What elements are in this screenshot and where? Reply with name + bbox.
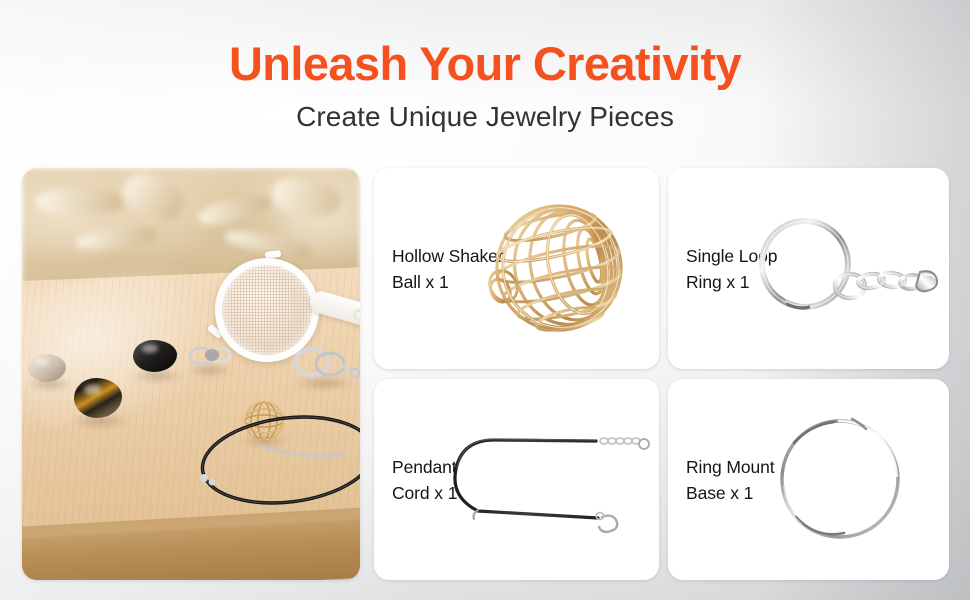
silver-rings-pair bbox=[292, 346, 360, 382]
item-card-hollow-shaker-ball[interactable]: Hollow Shaker Ball x 1 bbox=[374, 168, 659, 369]
split-keyring-with-chain-icon bbox=[668, 168, 949, 369]
jewelry-making-photo bbox=[22, 168, 360, 580]
item-card-pendant-cord[interactable]: Pendant Cord x 1 bbox=[374, 379, 659, 580]
gold-spiral-cage-ball-icon bbox=[374, 168, 659, 369]
ring-mount-base-icon bbox=[668, 379, 949, 580]
item-card-ring-mount-base[interactable]: Ring Mount Base x 1 bbox=[668, 379, 949, 580]
header: Unleash Your Creativity Create Unique Je… bbox=[0, 40, 970, 133]
pendant-cord-necklace-icon bbox=[374, 379, 659, 580]
infographic-stage: Unleash Your Creativity Create Unique Je… bbox=[0, 0, 970, 600]
page-title: Unleash Your Creativity bbox=[0, 40, 970, 89]
item-card-single-loop-ring[interactable]: Single Loop Ring x 1 bbox=[668, 168, 949, 369]
page-subtitle: Create Unique Jewelry Pieces bbox=[0, 100, 970, 134]
silver-stud-pair bbox=[188, 344, 238, 368]
cord-necklace-photo bbox=[192, 404, 360, 519]
